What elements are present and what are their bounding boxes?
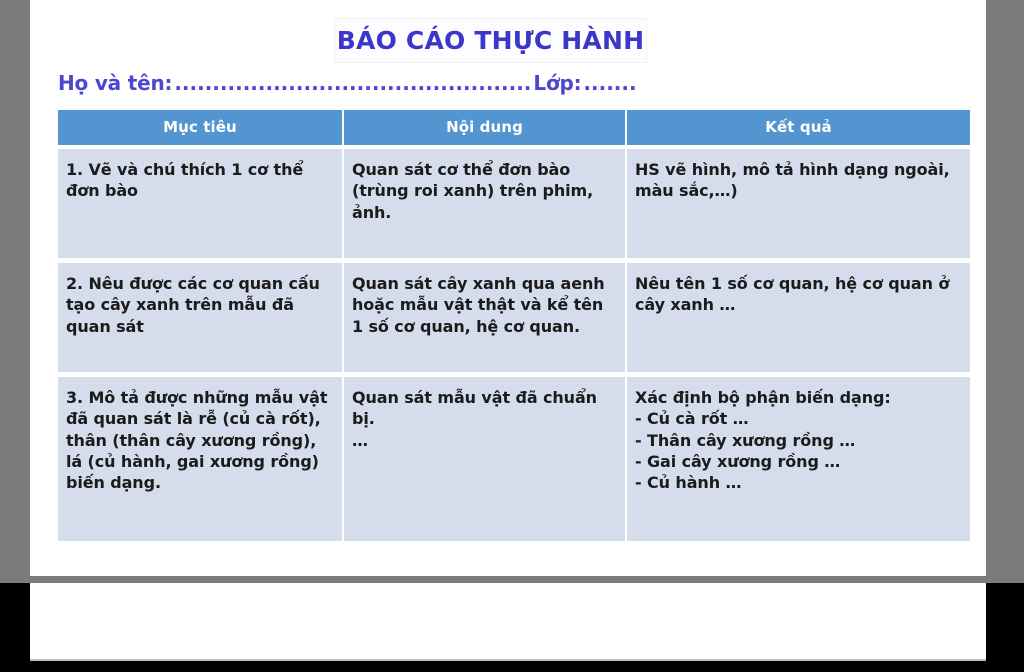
page-separator-gap [30, 576, 986, 583]
cell-result-2: Nêu tên 1 số cơ quan, hệ cơ quan ở cây x… [627, 263, 970, 377]
right-gutter [986, 0, 1024, 583]
document-page-one: BÁO CÁO THỰC HÀNH Họ và tên: ...........… [30, 0, 986, 576]
result-line-list: Xác định bộ phận biến dạng:- Củ cà rốt …… [635, 387, 960, 493]
column-header-objective: Mục tiêu [58, 110, 344, 149]
class-blank-dots: ....... [583, 71, 636, 95]
title-box: BÁO CÁO THỰC HÀNH [334, 18, 647, 63]
text-line: - Củ hành … [635, 472, 960, 493]
content-line-list: Quan sát mẫu vật đã chuẩn bị.… [352, 387, 615, 451]
table-header-row: Mục tiêu Nội dung Kết quả [58, 110, 970, 149]
page-title: BÁO CÁO THỰC HÀNH [337, 26, 644, 55]
text-line: - Thân cây xương rồng … [635, 430, 960, 451]
column-header-content: Nội dung [344, 110, 627, 149]
document-scan-viewer: BÁO CÁO THỰC HÀNH Họ và tên: ...........… [0, 0, 1024, 672]
cell-objective-2: 2. Nêu được các cơ quan cấu tạo cây xanh… [58, 263, 344, 377]
name-blank-dots: ........................................… [174, 71, 531, 95]
cell-content-1: Quan sát cơ thể đơn bào (trùng roi xanh)… [344, 149, 627, 263]
text-line: - Củ cà rốt … [635, 408, 960, 429]
practice-report-table: Mục tiêu Nội dung Kết quả 1. Vẽ và chú t… [58, 110, 970, 541]
cell-result-3: Xác định bộ phận biến dạng:- Củ cà rốt …… [627, 377, 970, 541]
cell-content-2: Quan sát cây xanh qua aenh hoặc mẫu vật … [344, 263, 627, 377]
text-line: Quan sát mẫu vật đã chuẩn bị. [352, 387, 615, 430]
text-line: Xác định bộ phận biến dạng: [635, 387, 960, 408]
name-label: Họ và tên: [58, 71, 172, 95]
cell-objective-1: 1. Vẽ và chú thích 1 cơ thể đơn bào [58, 149, 344, 263]
cell-result-1: HS vẽ hình, mô tả hình dạng ngoài, màu s… [627, 149, 970, 263]
text-line: - Gai cây xương rồng … [635, 451, 960, 472]
cell-objective-3: 3. Mô tả được những mẫu vật đã quan sát … [58, 377, 344, 541]
cell-content-3: Quan sát mẫu vật đã chuẩn bị.… [344, 377, 627, 541]
table-row: 3. Mô tả được những mẫu vật đã quan sát … [58, 377, 970, 541]
table-row: 1. Vẽ và chú thích 1 cơ thể đơn bào Quan… [58, 149, 970, 263]
left-gutter [0, 0, 30, 583]
text-line: … [352, 430, 615, 451]
document-page-two [30, 583, 986, 661]
student-info-line: Họ và tên: .............................… [58, 68, 628, 98]
class-label: Lớp: [533, 71, 581, 95]
table-row: 2. Nêu được các cơ quan cấu tạo cây xanh… [58, 263, 970, 377]
column-header-result: Kết quả [627, 110, 970, 149]
